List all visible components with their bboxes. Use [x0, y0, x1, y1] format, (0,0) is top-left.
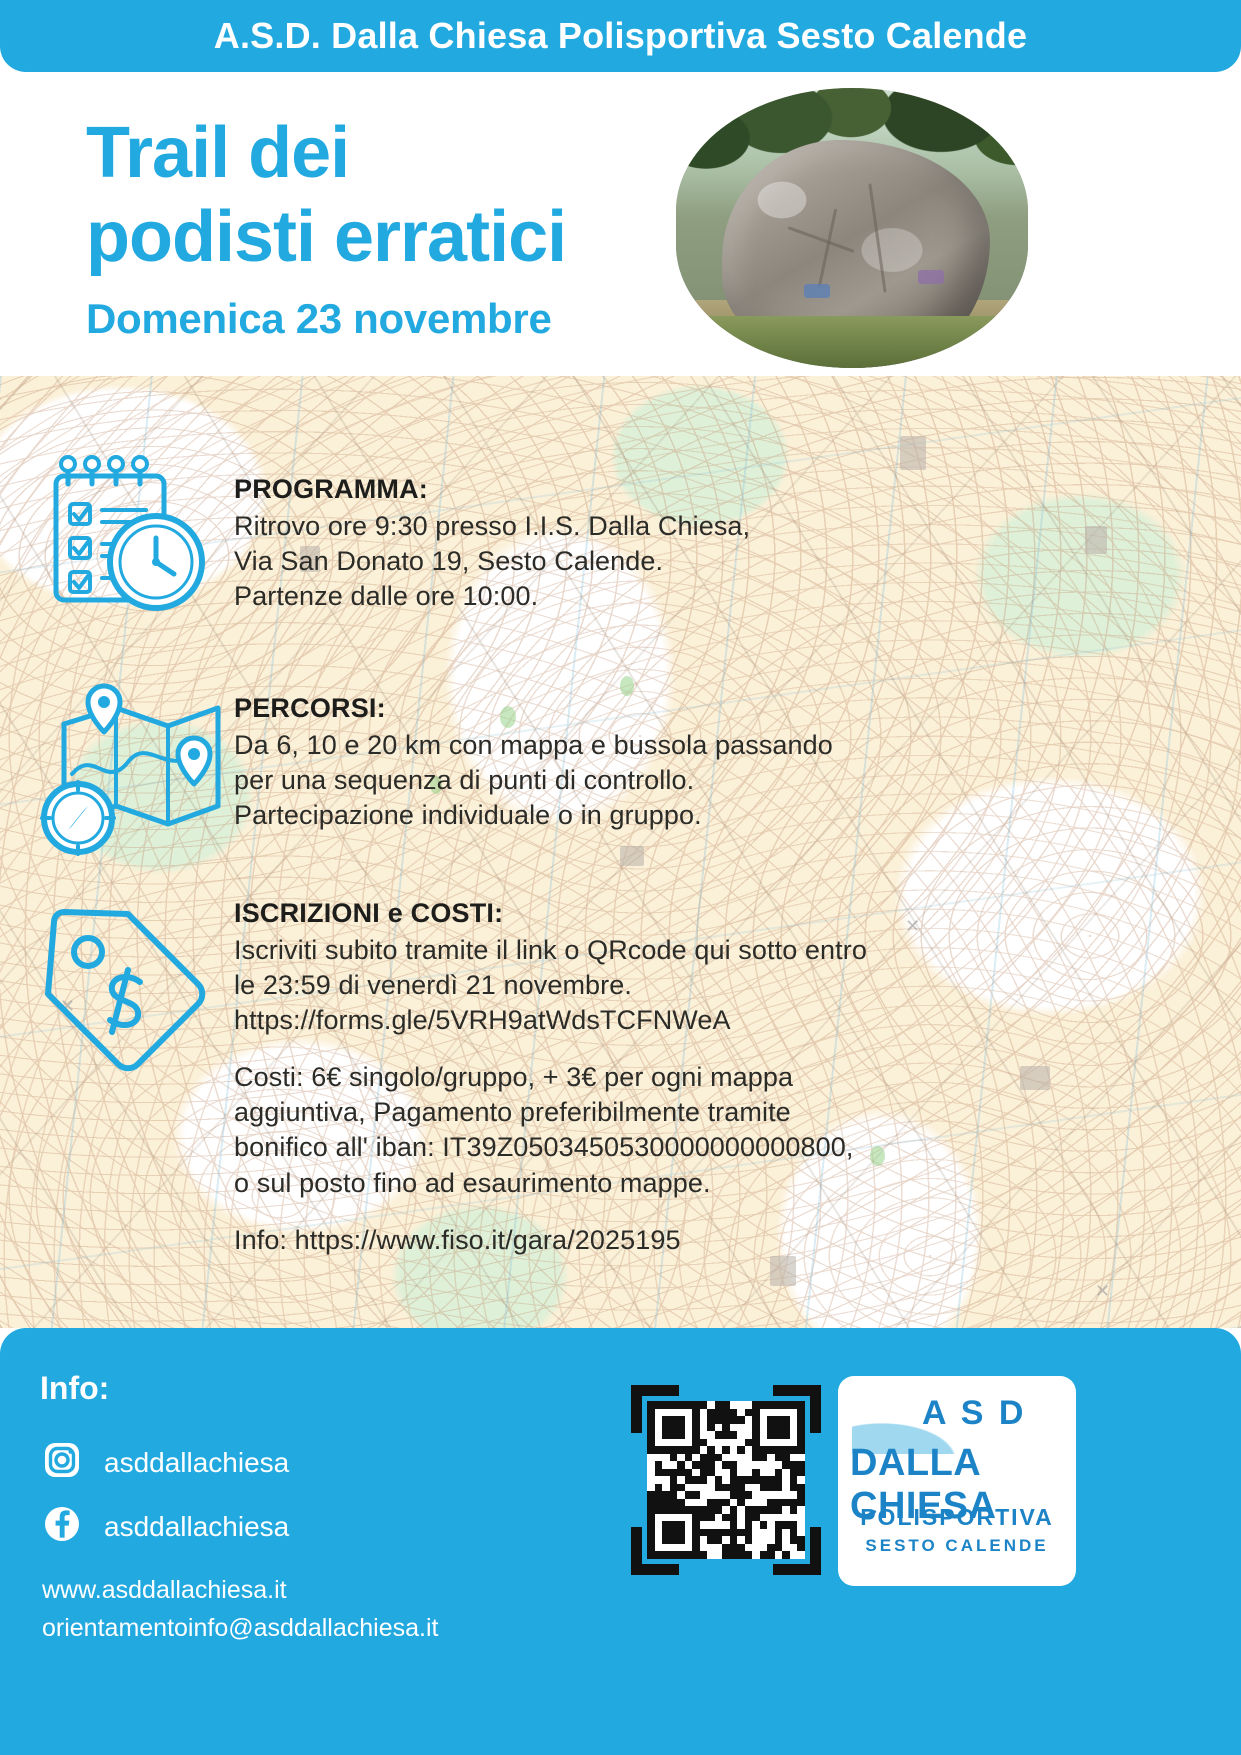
- price-tag-icon: [32, 900, 212, 1085]
- qr-matrix: [647, 1401, 805, 1559]
- map-compass-icon: [28, 678, 228, 863]
- title-block: Trail dei podisti erratici Domenica 23 n…: [86, 112, 706, 343]
- calendar-clock-icon: [38, 452, 218, 637]
- map-building: [1085, 526, 1107, 554]
- email-link[interactable]: orientamentoinfo@asddallachiesa.it: [42, 1610, 438, 1648]
- map-vegetation-marker: [870, 1146, 885, 1166]
- photo-graffiti: [918, 270, 944, 284]
- map-building: [620, 846, 644, 866]
- website-link[interactable]: www.asddallachiesa.it: [42, 1572, 438, 1610]
- club-logo: A S D DALLA CHIESA POLISPORTIVA SESTO CA…: [838, 1376, 1076, 1586]
- footer-info-label: Info:: [40, 1370, 109, 1407]
- facebook-row[interactable]: asddallachiesa: [42, 1504, 289, 1549]
- section-programma: PROGRAMMA: Ritrovo ore 9:30 presso I.I.S…: [234, 474, 750, 614]
- section-costi-line: aggiuntiva, Pagamento preferibilmente tr…: [234, 1095, 867, 1130]
- info-fiso-link[interactable]: Info: https://www.fiso.it/gara/2025195: [234, 1223, 867, 1258]
- section-percorsi-heading: PERCORSI:: [234, 693, 833, 724]
- map-building: [1020, 1066, 1050, 1090]
- spacer: [234, 1201, 867, 1223]
- section-costi-line: Costi: 6€ singolo/gruppo, + 3€ per ogni …: [234, 1060, 867, 1095]
- instagram-icon[interactable]: [42, 1440, 82, 1485]
- section-programma-line: Ritrovo ore 9:30 presso I.I.S. Dalla Chi…: [234, 509, 750, 544]
- section-programma-line: Via San Donato 19, Sesto Calende.: [234, 544, 750, 579]
- section-percorsi: PERCORSI: Da 6, 10 e 20 km con mappa e b…: [234, 693, 833, 833]
- instagram-row[interactable]: asddallachiesa: [42, 1440, 289, 1485]
- section-percorsi-line: Partecipazione individuale o in gruppo.: [234, 798, 833, 833]
- qr-code[interactable]: [631, 1385, 821, 1575]
- section-costi-line: o sul posto fino ad esaurimento mappe.: [234, 1166, 867, 1201]
- section-iscrizioni-line: Iscriviti subito tramite il link o QRcod…: [234, 933, 867, 968]
- photo-graffiti: [804, 284, 830, 298]
- instagram-handle[interactable]: asddallachiesa: [104, 1447, 289, 1479]
- section-programma-line: Partenze dalle ore 10:00.: [234, 579, 750, 614]
- section-percorsi-line: per una sequenza di punti di controllo.: [234, 763, 833, 798]
- poster-root: A.S.D. Dalla Chiesa Polisportiva Sesto C…: [0, 0, 1241, 1755]
- iban-line: bonifico all' iban: IT39Z050345053000000…: [234, 1130, 867, 1165]
- map-feature-icon: ✕: [1095, 1281, 1110, 1302]
- logo-polisportiva-text: POLISPORTIVA: [852, 1504, 1062, 1531]
- event-date-subtitle: Domenica 23 novembre: [86, 295, 706, 343]
- footer-contact-block: www.asddallachiesa.it orientamentoinfo@a…: [42, 1572, 438, 1647]
- section-iscrizioni-line: le 23:59 di venerdì 21 novembre.: [234, 968, 867, 1003]
- section-programma-heading: PROGRAMMA:: [234, 474, 750, 505]
- logo-city-text: SESTO CALENDE: [852, 1536, 1062, 1556]
- map-feature-icon: ✕: [905, 916, 920, 937]
- section-iscrizioni: ISCRIZIONI e COSTI: Iscriviti subito tra…: [234, 898, 867, 1258]
- registration-form-link[interactable]: https://forms.gle/5VRH9atWdsTCFNWeA: [234, 1003, 867, 1038]
- section-iscrizioni-heading: ISCRIZIONI e COSTI:: [234, 898, 867, 929]
- header-bar: A.S.D. Dalla Chiesa Polisportiva Sesto C…: [0, 0, 1241, 72]
- erratic-boulder-photo: [676, 88, 1028, 368]
- logo-asd-text: A S D: [922, 1394, 1026, 1433]
- map-building: [900, 436, 926, 470]
- spacer: [234, 1038, 867, 1060]
- facebook-handle[interactable]: asddallachiesa: [104, 1511, 289, 1543]
- facebook-icon[interactable]: [42, 1504, 82, 1549]
- photo-grass: [676, 316, 1028, 368]
- event-title-line-1: Trail dei: [86, 112, 706, 196]
- section-percorsi-line: Da 6, 10 e 20 km con mappa e bussola pas…: [234, 728, 833, 763]
- event-title-line-2: podisti erratici: [86, 196, 706, 280]
- organization-title: A.S.D. Dalla Chiesa Polisportiva Sesto C…: [214, 15, 1027, 57]
- map-building: [770, 1256, 796, 1286]
